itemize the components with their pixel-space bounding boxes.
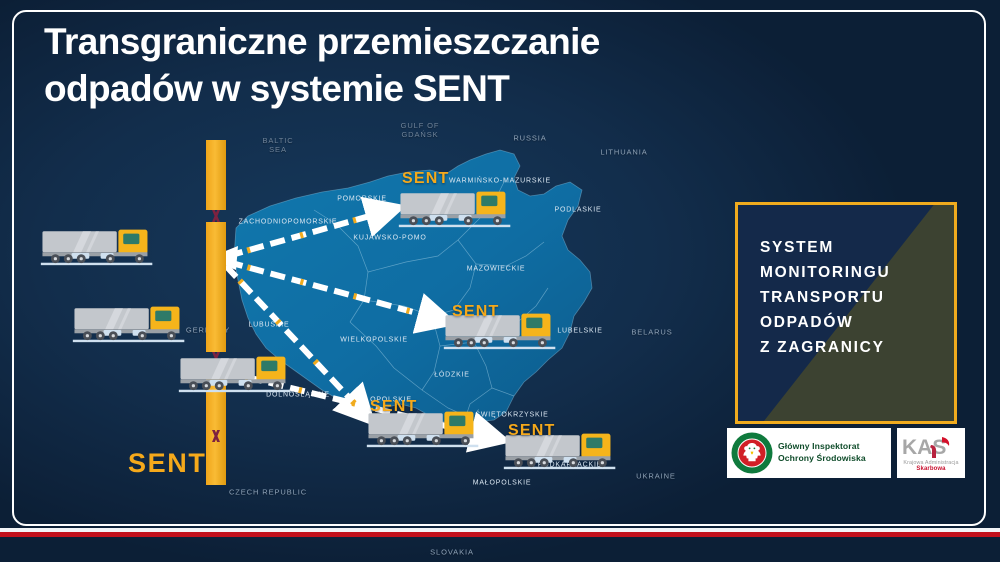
truck-cab-window <box>481 196 497 207</box>
truck-road <box>367 445 478 447</box>
truck-at-border <box>178 355 296 397</box>
barrier-joint <box>212 430 220 442</box>
geo-label-lithuania: LITHUANIA <box>600 148 647 157</box>
geo-label-russia: RUSSIA <box>513 134 546 143</box>
voivodeship-label-wielkopolskie: WIELKOPOLSKIE <box>340 337 408 344</box>
voivodeship-label-mazowieckie: MAZOWIECKIE <box>467 266 526 273</box>
voivodeship-label-zachodniopomorskie: ZACHODNIOPOMORSKIE <box>239 219 338 226</box>
truck-road <box>179 390 290 392</box>
voivodeship-label-warminsko-mazurskie: WARMIŃSKO-MAZURSKIE <box>449 178 551 185</box>
truck-cab-window <box>155 311 171 322</box>
barrier-segment <box>206 442 226 485</box>
voivodeship-label-kujawsko-pomorskie: KUJAWSKO-POMO <box>353 235 426 242</box>
barrier-joint <box>212 210 220 222</box>
truck-cab-window <box>526 318 542 329</box>
barrier-segment <box>206 140 226 210</box>
panel-line-1: SYSTEM <box>760 235 954 260</box>
slide-canvas: BALTICSEA GULF OFGDAŃSK RUSSIA LITHUANIA… <box>0 0 1000 562</box>
logo-gios: Główny Inspektorat Ochrony Środowiska <box>727 428 891 478</box>
title-line-1: Transgraniczne przemieszczanie <box>44 21 600 62</box>
accent-stripe-red <box>0 532 1000 537</box>
sent-tag-south-west: SENT <box>370 398 417 416</box>
panel-line-3: TRANSPORTU <box>760 285 954 310</box>
panel-line-5: Z ZAGRANICY <box>760 335 954 360</box>
truck-north <box>398 190 516 232</box>
kas-mark-icon: KAS <box>901 434 961 460</box>
truck-road <box>73 340 184 342</box>
gios-text: Główny Inspektorat Ochrony Środowiska <box>778 441 866 464</box>
sent-tag-south-east: SENT <box>508 422 555 440</box>
truck-road <box>504 467 615 469</box>
geo-label-slovakia: SLOVAKIA <box>430 548 474 557</box>
logo-kas: KAS Krajowa Administracja Skarbowa <box>897 428 965 478</box>
title-line-2: odpadów w systemie SENT <box>44 65 744 112</box>
truck-road <box>41 263 152 265</box>
geo-label-belarus: BELARUS <box>631 328 672 337</box>
geo-label-czech-republic: CZECH REPUBLIC <box>229 488 307 497</box>
voivodeship-label-lubuskie: LUBUSKIE <box>248 322 289 329</box>
system-name-panel: SYSTEM MONITORINGU TRANSPORTU ODPADÓW Z … <box>735 202 957 424</box>
gios-line-1: Główny Inspektorat <box>778 441 866 453</box>
sent-barrier-label: SENT <box>128 448 206 479</box>
geo-label-baltic-sea: BALTICSEA <box>262 136 293 154</box>
page-title: Transgraniczne przemieszczanie odpadów w… <box>44 18 744 113</box>
truck-road <box>444 347 555 349</box>
truck-south-west <box>366 410 484 452</box>
geo-label-ukraine: UKRAINE <box>636 472 676 481</box>
truck-cab-window <box>586 438 602 449</box>
barrier-segment <box>206 222 226 352</box>
voivodeship-label-lodzkie: ŁÓDZKIE <box>434 372 470 379</box>
truck-cab-window <box>261 361 277 372</box>
truck-outside-1 <box>40 228 158 270</box>
logo-row: Główny Inspektorat Ochrony Środowiska KA… <box>727 428 965 483</box>
truck-road <box>399 225 510 227</box>
sent-tag-central: SENT <box>452 303 499 321</box>
voivodeship-label-malopolskie: MAŁOPOLSKIE <box>473 480 532 487</box>
svg-text:KAS: KAS <box>902 436 946 459</box>
voivodeship-label-lubelskie: LUBELSKIE <box>557 328 602 335</box>
panel-text: SYSTEM MONITORINGU TRANSPORTU ODPADÓW Z … <box>738 205 954 361</box>
kas-line-2: Skarbowa <box>916 466 945 472</box>
voivodeship-label-swietokrzyskie: ŚWIĘTOKRZYSKIE <box>475 412 548 419</box>
sent-tag-north: SENT <box>402 170 449 188</box>
border-barrier <box>206 140 226 485</box>
gios-line-2: Ochrony Środowiska <box>778 453 866 465</box>
truck-cab-window <box>449 416 465 427</box>
gios-seal-icon <box>731 432 773 474</box>
voivodeship-label-podlaskie: PODLASKIE <box>555 207 602 214</box>
geo-label-gulf-of-gdansk: GULF OFGDAŃSK <box>401 121 440 139</box>
voivodeship-label-pomorskie: POMORSKIE <box>337 196 387 203</box>
truck-outside-2 <box>72 305 190 347</box>
truck-cab-window <box>123 234 139 245</box>
panel-line-4: ODPADÓW <box>760 310 954 335</box>
panel-line-2: MONITORINGU <box>760 260 954 285</box>
